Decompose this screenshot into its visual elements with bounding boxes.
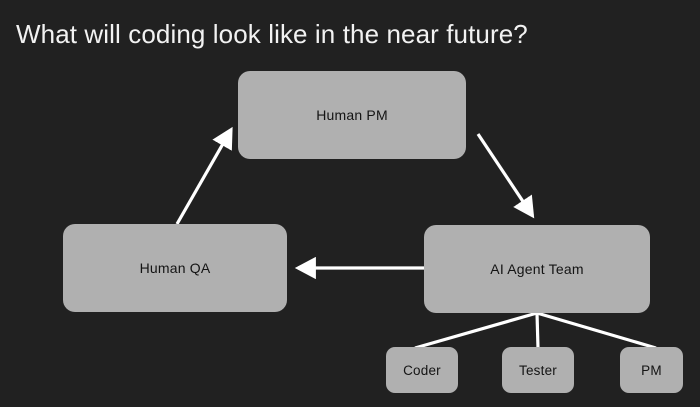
node-label: PM [641,363,662,378]
edge-ai-to-tester [537,313,538,348]
edge-ai-to-pm [537,313,656,348]
edge-ai-to-coder [415,313,537,348]
node-human-pm[interactable]: Human PM [238,71,466,159]
node-coder[interactable]: Coder [386,347,458,393]
node-human-qa[interactable]: Human QA [63,224,287,312]
node-pm[interactable]: PM [620,347,683,393]
connector-layer [0,0,700,407]
edge-pm-to-ai [478,134,532,216]
page-title: What will coding look like in the near f… [16,18,528,50]
node-ai-agent-team[interactable]: AI Agent Team [424,225,650,313]
node-tester[interactable]: Tester [502,347,574,393]
node-label: Human QA [140,260,211,276]
node-label: Tester [519,363,557,378]
slide-canvas: What will coding look like in the near f… [0,0,700,407]
node-label: Coder [403,363,441,378]
node-label: Human PM [316,107,388,123]
edge-qa-to-pm [177,130,231,224]
node-label: AI Agent Team [490,261,583,277]
